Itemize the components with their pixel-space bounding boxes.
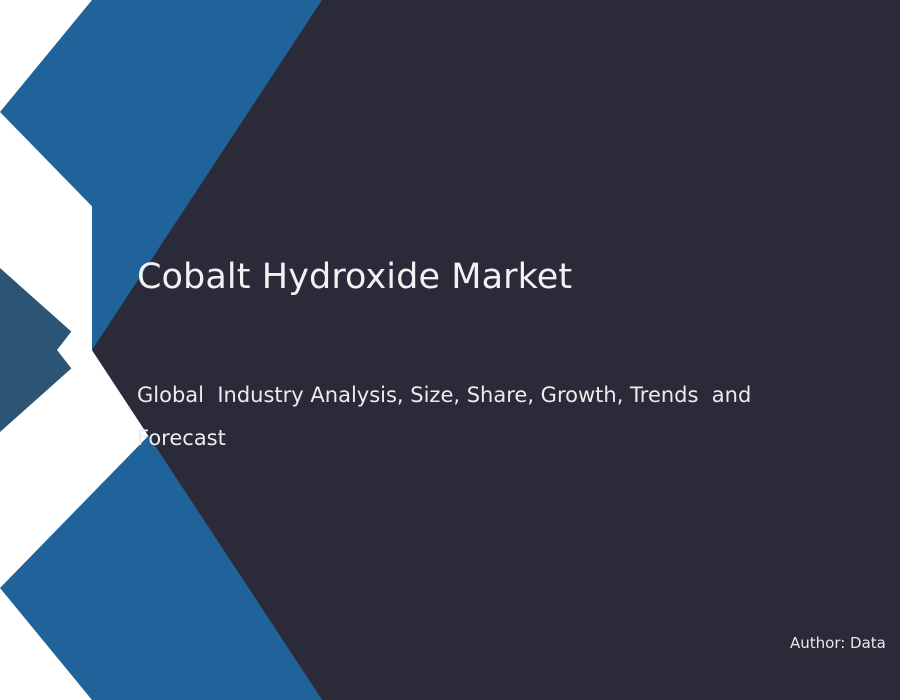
- title-slide: Cobalt Hydroxide Market Global Industry …: [0, 0, 900, 700]
- page-title: Cobalt Hydroxide Market: [137, 255, 857, 299]
- slide-subtitle: Global Industry Analysis, Size, Share, G…: [137, 374, 797, 460]
- slide-text-layer: Cobalt Hydroxide Market Global Industry …: [0, 0, 900, 700]
- author-credit: Author: Data: [790, 633, 900, 653]
